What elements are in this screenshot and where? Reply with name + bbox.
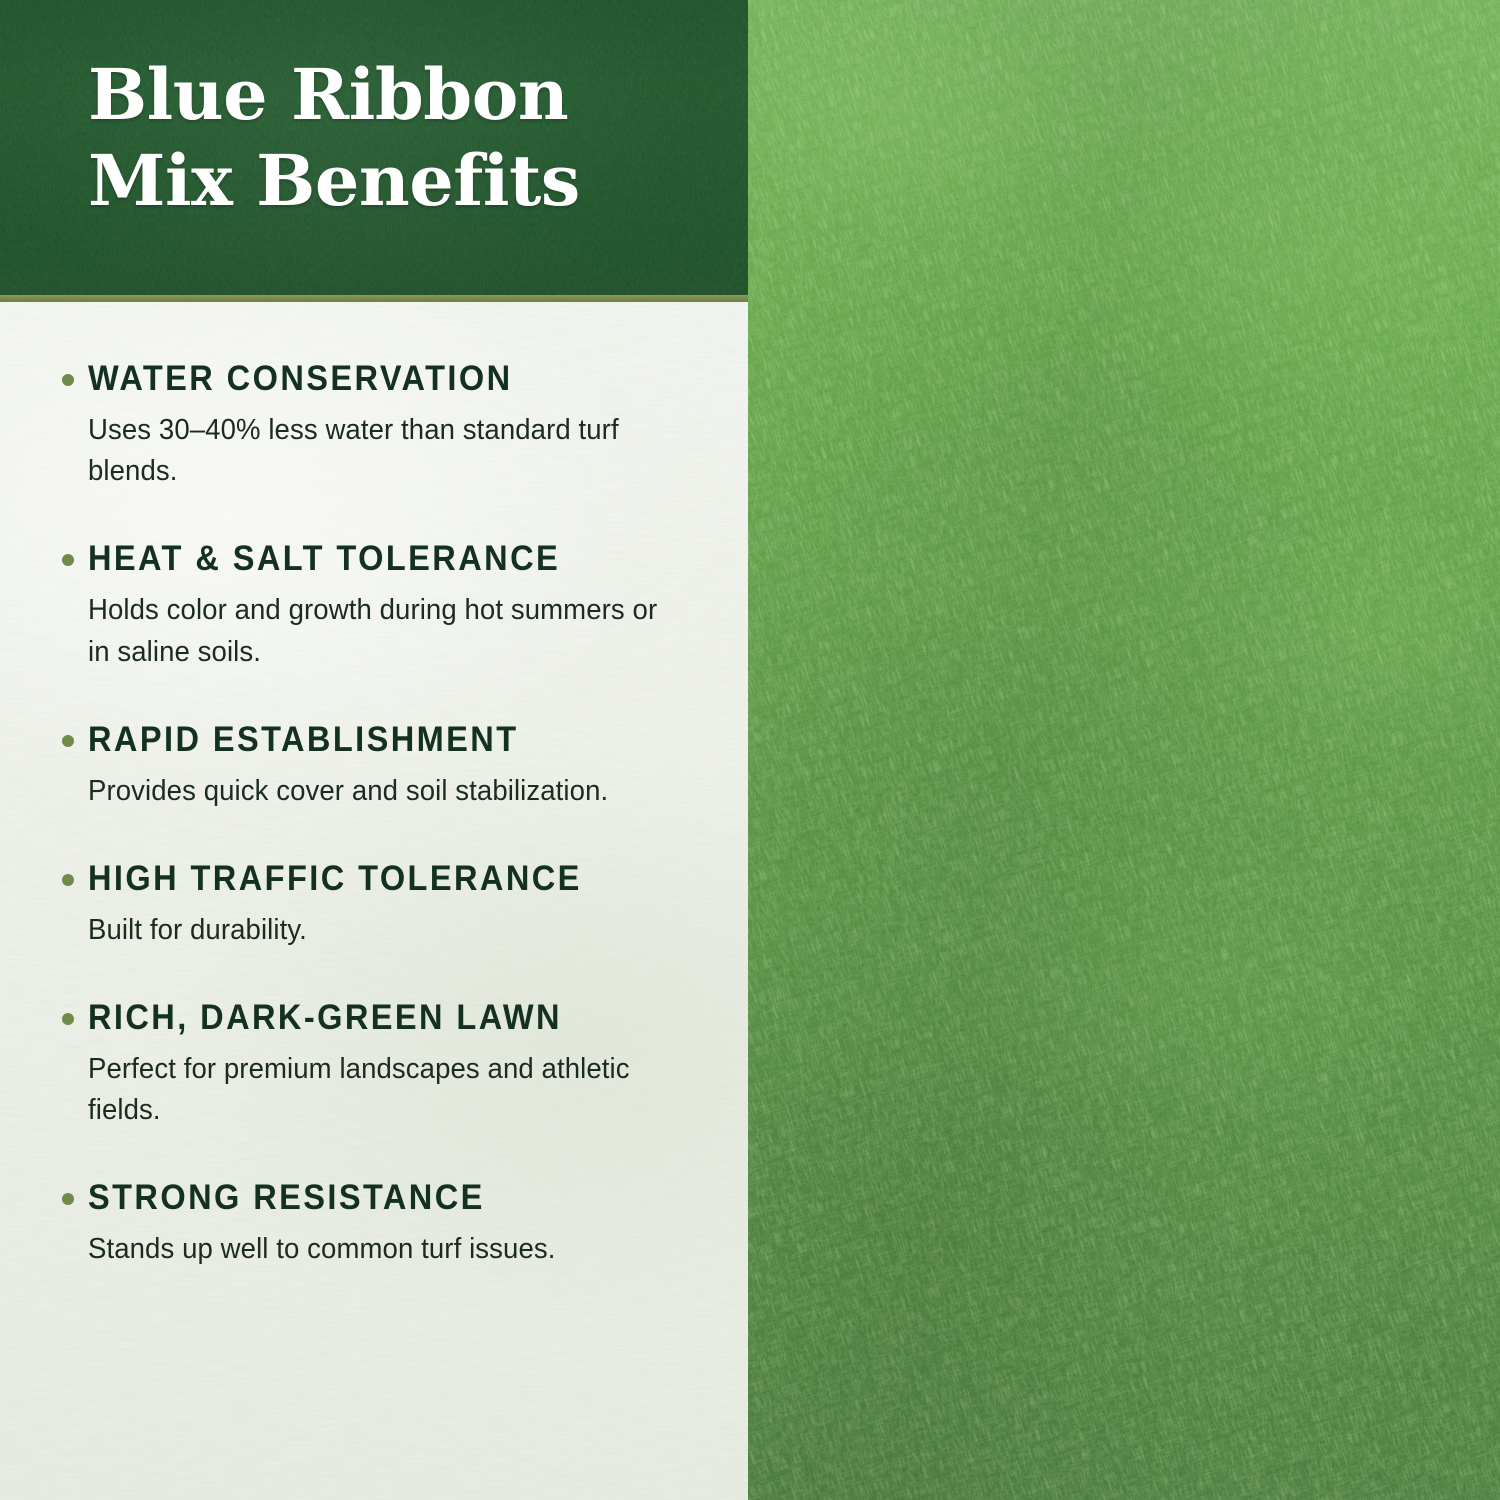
benefit-title: Rich, Dark-Green Lawn [88,997,646,1039]
header-band: Blue Ribbon Mix Benefits [0,0,748,296]
benefit-title: Strong Resistance [88,1177,646,1219]
benefit-description: Provides quick cover and soil stabilizat… [88,771,658,812]
benefit-description: Holds color and growth during hot summer… [88,590,658,672]
benefit-title: Rapid Establishment [88,719,646,761]
bullet-dot-icon [62,874,74,886]
list-item: Strong Resistance Stands up well to comm… [0,1177,748,1270]
benefits-panel: Water Conservation Uses 30–40% less wate… [0,302,748,1500]
benefit-title: High Traffic Tolerance [88,858,646,900]
bullet-dot-icon [62,735,74,747]
grass-shading [748,0,1500,1500]
benefits-list: Water Conservation Uses 30–40% less wate… [0,302,748,1271]
page-title: Blue Ribbon Mix Benefits [88,52,688,224]
benefit-title: Heat & Salt Tolerance [88,538,646,580]
benefit-description: Uses 30–40% less water than standard tur… [88,410,658,492]
list-item: Rapid Establishment Provides quick cover… [0,719,748,812]
list-item: Heat & Salt Tolerance Holds color and gr… [0,538,748,672]
benefit-description: Built for durability. [88,910,658,951]
benefit-description: Perfect for premium landscapes and athle… [88,1049,658,1131]
left-content-column: Blue Ribbon Mix Benefits [0,0,748,1500]
bullet-dot-icon [62,554,74,566]
list-item: Rich, Dark-Green Lawn Perfect for premiu… [0,997,748,1131]
list-item: High Traffic Tolerance Built for durabil… [0,858,748,951]
benefit-title: Water Conservation [88,358,646,400]
bullet-dot-icon [62,1013,74,1025]
benefit-description: Stands up well to common turf issues. [88,1229,658,1270]
accent-divider [0,295,748,302]
bullet-dot-icon [62,374,74,386]
list-item: Water Conservation Uses 30–40% less wate… [0,358,748,492]
benefits-infographic: Blue Ribbon Mix Benefits [0,0,1500,1500]
lawn-photo [748,0,1500,1500]
bullet-dot-icon [62,1193,74,1205]
